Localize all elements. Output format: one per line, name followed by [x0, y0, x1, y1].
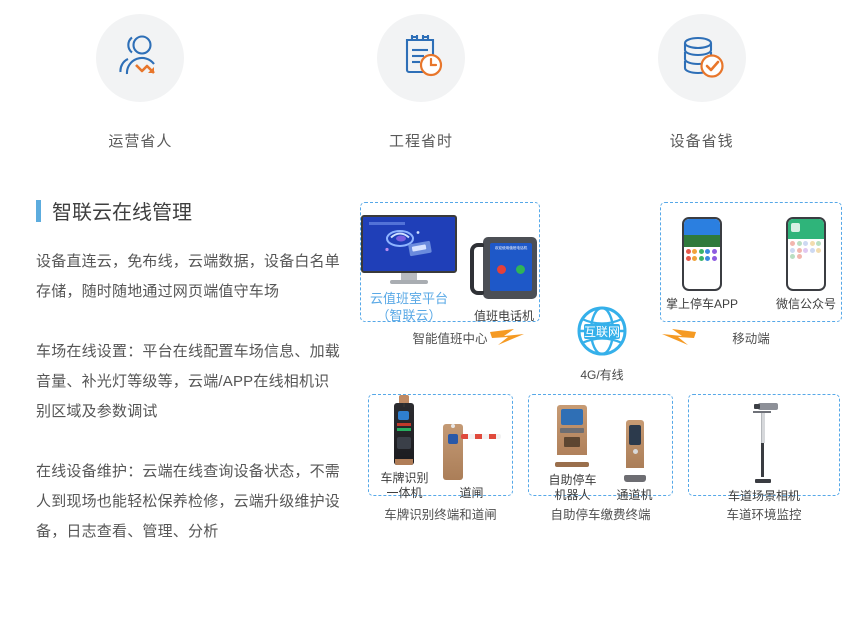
device-desk-phone: 欢迎使用值班电话机 值班电话机 [469, 235, 539, 324]
clipboard-clock-icon [395, 30, 447, 87]
wechat-icon-grid [788, 239, 824, 261]
answer-key [516, 265, 525, 274]
device-label: 自助停车 机器人 [548, 473, 596, 503]
benefit-item-equipment: 设备省钱 [561, 14, 842, 180]
device-label: 值班电话机 [474, 309, 534, 324]
device-payment-kiosk: 自助停车 机器人 [548, 405, 596, 503]
device-lane-gate-machine: 通道机 [617, 420, 653, 503]
monitor-illustration [378, 226, 440, 265]
device-label: 掌上停车APP [666, 297, 738, 312]
phone-handset [470, 243, 484, 295]
device-road-scene-camera: 车道场景相机 [728, 403, 800, 504]
device-row: 掌上停车APP 微信公众号 [661, 217, 841, 312]
benefit-icon-circle [96, 14, 184, 102]
payment-kiosk-icon [555, 405, 589, 467]
anpr-terminal-icon [394, 403, 414, 465]
device-barrier-gate: 道闸 [443, 418, 501, 501]
group-box-lane-monitoring: 车道场景相机 [688, 394, 840, 496]
device-parking-app: 掌上停车APP [666, 217, 738, 312]
device-desktop-monitor: 云值班室平台 （智联云） [361, 215, 457, 324]
monitor-base [390, 280, 428, 284]
group-box-anpr-and-barrier: 车牌识别 一体机 道闸 [368, 394, 513, 496]
system-topology-diagram: 云值班室平台 （智联云） 欢迎使用值班电话机 值班电话机 [360, 198, 842, 538]
monitor-titlebar [369, 222, 405, 225]
paragraph-3: 在线设备维护：云端在线查询设备状态，不需人到现场也能轻松保养检修，云端升级维护设… [36, 457, 342, 547]
hub-label: 4G/有线 [566, 366, 638, 383]
svg-text:互联网: 互联网 [584, 325, 620, 339]
benefit-label: 工程省时 [389, 130, 453, 151]
group-caption-self-service-payment: 自助停车缴费终端 [528, 504, 673, 523]
device-row: 车道场景相机 [689, 403, 839, 504]
device-label: 道闸 [459, 486, 483, 501]
title-accent-bar [36, 200, 41, 222]
group-box-self-service-payment: 自助停车 机器人 通道机 [528, 394, 673, 496]
benefit-item-operations: 运营省人 [0, 14, 281, 180]
page-title: 智联云在线管理 [36, 196, 342, 225]
device-anpr-terminal: 车牌识别 一体机 [380, 403, 428, 501]
lane-gate-machine-icon [622, 420, 648, 482]
phone-keypad [492, 265, 530, 274]
device-row: 车牌识别 一体机 道闸 [369, 403, 512, 501]
device-wechat-official: 微信公众号 [776, 217, 836, 312]
device-label: 通道机 [617, 488, 653, 503]
bolt-right-icon [644, 326, 698, 353]
benefit-icon-circle [377, 14, 465, 102]
group-caption-lane-monitoring: 车道环境监控 [688, 504, 840, 523]
device-row: 自助停车 机器人 通道机 [529, 405, 672, 503]
device-label: 微信公众号 [776, 297, 836, 312]
benefit-icon-circle [658, 14, 746, 102]
group-box-duty-center: 云值班室平台 （智联云） 欢迎使用值班电话机 值班电话机 [360, 202, 540, 322]
road-scene-camera-icon [749, 403, 779, 483]
bolt-left-icon [488, 326, 542, 353]
group-box-mobile-terminal: 掌上停车APP 微信公众号 [660, 202, 842, 322]
reject-key [497, 265, 506, 274]
group-caption-anpr-and-barrier: 车牌识别终端和道闸 [368, 504, 513, 523]
section-title-text: 智联云在线管理 [52, 196, 192, 225]
paragraph-1: 设备直连云，免布线，云端数据，设备白名单存储，随时随地通过网页端值守车场 [36, 247, 342, 307]
smartphone-wechat-icon [786, 217, 826, 291]
monitor-neck [401, 273, 417, 280]
benefits-row: 运营省人 工程省时 [0, 0, 842, 180]
globe-internet-icon: 互联网 [573, 347, 631, 364]
desktop-monitor-icon [361, 215, 457, 273]
benefit-label: 运营省人 [108, 130, 172, 151]
internet-hub: 互联网 4G/有线 [566, 302, 638, 383]
barrier-gate-icon [443, 418, 501, 480]
wechat-header [788, 219, 824, 239]
app-icon-grid [684, 247, 720, 263]
benefit-item-engineering: 工程省时 [281, 14, 562, 180]
device-label: 云值班室平台 （智联云） [370, 290, 448, 324]
paragraph-2: 车场在线设置：平台在线配置车场信息、加载音量、补光灯等级等，云端/APP在线相机… [36, 337, 342, 427]
device-label: 车牌识别 一体机 [380, 471, 428, 501]
user-analytics-icon [114, 30, 166, 87]
benefit-label: 设备省钱 [670, 130, 734, 151]
phone-screen: 欢迎使用值班电话机 [490, 243, 532, 291]
desk-phone-icon: 欢迎使用值班电话机 [469, 235, 539, 303]
smartphone-app-icon [682, 217, 722, 291]
device-row: 云值班室平台 （智联云） 欢迎使用值班电话机 值班电话机 [361, 215, 539, 324]
coins-check-icon [676, 30, 728, 87]
app-banner [684, 235, 720, 247]
device-label: 车道场景相机 [728, 489, 800, 504]
cloud-management-section: 智联云在线管理 设备直连云，免布线，云端数据，设备白名单存储，随时随地通过网页端… [36, 196, 342, 547]
app-header [684, 219, 720, 235]
